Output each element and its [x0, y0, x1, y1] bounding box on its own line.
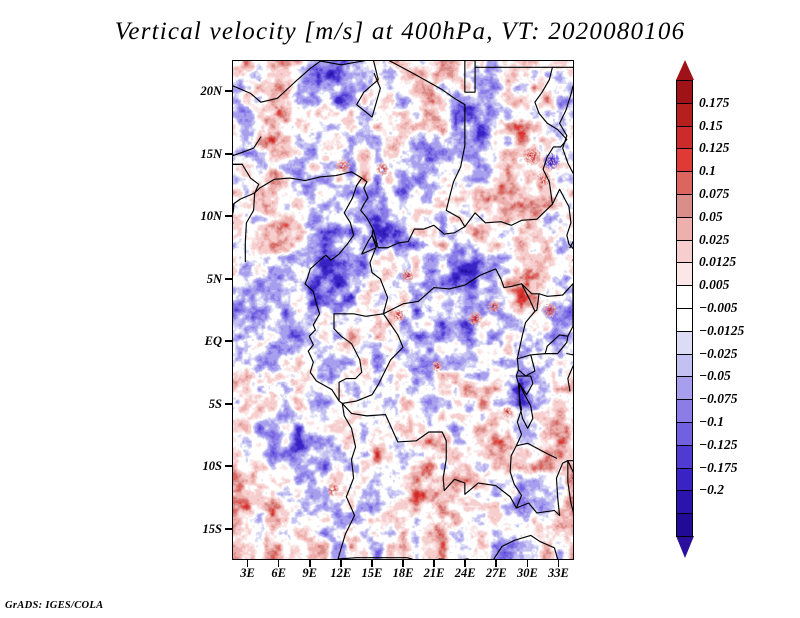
colorbar-band [676, 262, 693, 286]
y-axis-tick [225, 278, 232, 280]
colorbar-tick-label: 0.1 [699, 164, 716, 178]
colorbar-tick-label: −0.005 [699, 301, 738, 315]
colorbar-band [676, 194, 693, 218]
y-axis-tick [225, 153, 232, 155]
colorbar-tick-label: 0.005 [699, 278, 729, 292]
colorbar-tick-label: −0.175 [699, 461, 738, 475]
colorbar-tick-label: −0.1 [699, 415, 724, 429]
colorbar-tick-label: −0.125 [699, 438, 738, 452]
colorbar-tick-label: −0.025 [699, 347, 738, 361]
y-axis-label: 15S [172, 523, 222, 536]
colorbar-arrow-top [676, 60, 694, 80]
colorbar-band [676, 354, 693, 378]
colorbar-band [676, 308, 693, 332]
y-axis-label: 10S [172, 460, 222, 473]
y-axis-label: 10N [172, 210, 222, 223]
y-axis-label-text: 10S [176, 460, 222, 473]
colorbar-arrow-bottom [676, 536, 694, 558]
y-axis-label: 5S [172, 398, 222, 411]
map-plot-area [232, 60, 574, 560]
colorbar-band [676, 490, 693, 514]
y-axis-label-text: 15S [176, 523, 222, 536]
colorbar-band [676, 103, 693, 127]
y-axis-label: EQ [172, 335, 222, 348]
footer-credit: GrADS: IGES/COLA [5, 600, 103, 611]
x-axis-label: 33E [538, 566, 578, 580]
colorbar-band [676, 171, 693, 195]
colorbar-tick-label: −0.05 [699, 369, 731, 383]
y-axis-label-text: 5N [176, 273, 222, 286]
y-axis-tick [225, 215, 232, 217]
colorbar-tick-label: 0.15 [699, 119, 723, 133]
y-axis-label: 5N [172, 273, 222, 286]
colorbar-tick-label: 0.025 [699, 233, 729, 247]
colorbar-band [676, 513, 693, 537]
colorbar-band [676, 468, 693, 492]
y-axis-label-text: EQ [176, 335, 222, 348]
y-axis-tick [225, 340, 232, 342]
y-axis-tick [225, 528, 232, 530]
y-axis-tick [225, 403, 232, 405]
colorbar-tick-label: −0.075 [699, 392, 738, 406]
x-axis-label-text: 33E [538, 566, 578, 580]
y-axis-label-text: 20N [176, 85, 222, 98]
y-axis-label: 15N [172, 148, 222, 161]
colorbar-tick-label: 0.05 [699, 210, 723, 224]
colorbar-band [676, 399, 693, 423]
y-axis-tick [225, 90, 232, 92]
colorbar-tick-label: 0.125 [699, 141, 729, 155]
colorbar-band [676, 445, 693, 469]
colorbar-tick-label: 0.175 [699, 96, 729, 110]
y-axis-tick [225, 465, 232, 467]
colorbar-band [676, 240, 693, 264]
colorbar-band [676, 80, 693, 104]
colorbar [676, 80, 693, 536]
y-axis-label-text: 15N [176, 148, 222, 161]
colorbar-tick-label: −0.2 [699, 483, 724, 497]
y-axis-label-text: 10N [176, 210, 222, 223]
colorbar-band [676, 126, 693, 150]
colorbar-band [676, 422, 693, 446]
page-title: Vertical velocity [m/s] at 400hPa, VT: 2… [0, 18, 800, 46]
y-axis-label: 20N [172, 85, 222, 98]
colorbar-band [676, 331, 693, 355]
colorbar-tick-label: 0.075 [699, 187, 729, 201]
colorbar-tick-label: 0.0125 [699, 255, 736, 269]
colorbar-band [676, 376, 693, 400]
colorbar-band [676, 217, 693, 241]
colorbar-band [676, 285, 693, 309]
vertical-velocity-field [233, 61, 573, 559]
y-axis-label-text: 5S [176, 398, 222, 411]
colorbar-tick-label: −0.0125 [699, 324, 744, 338]
colorbar-band [676, 148, 693, 172]
